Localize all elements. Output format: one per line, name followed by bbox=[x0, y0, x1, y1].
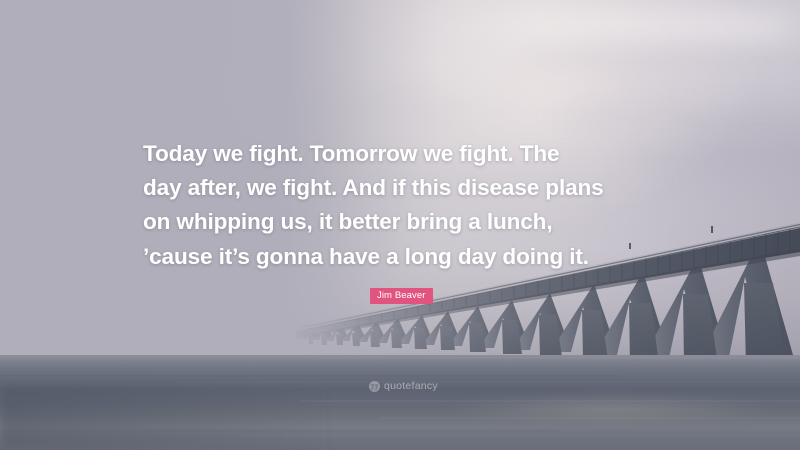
quote-text: Today we fight. Tomorrow we fight. The d… bbox=[143, 137, 683, 274]
author-badge[interactable]: Jim Beaver bbox=[370, 288, 433, 304]
quote-poster: Today we fight. Tomorrow we fight. The d… bbox=[0, 0, 800, 450]
watermark[interactable]: quotefancy bbox=[369, 381, 438, 392]
water-surface bbox=[0, 355, 800, 450]
watermark-brand: quotefancy bbox=[384, 381, 438, 392]
quote-mark-icon bbox=[369, 381, 380, 392]
